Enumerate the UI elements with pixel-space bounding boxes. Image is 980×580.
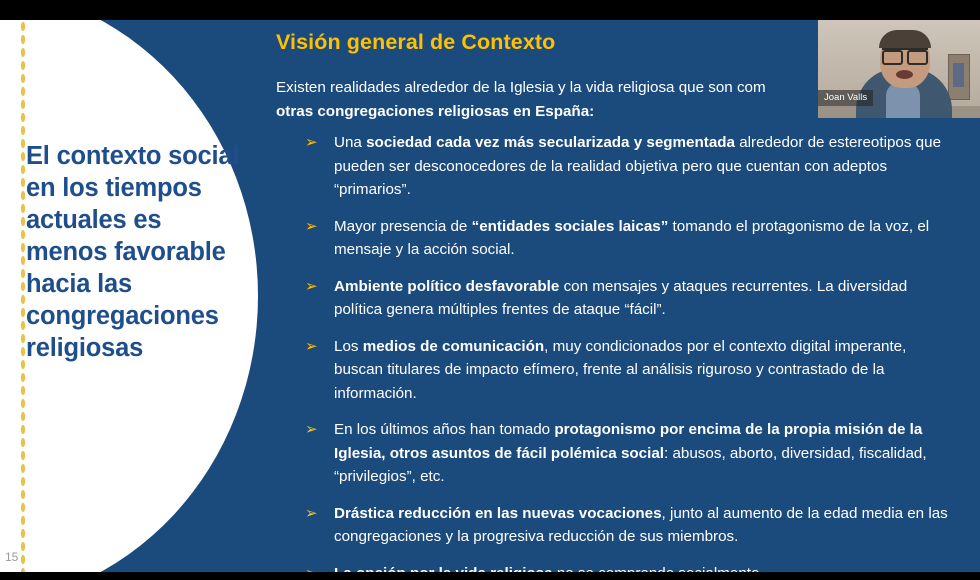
participant-video-tile[interactable]: Joan Valls	[818, 20, 980, 118]
bullet-arrow-icon: ➢	[305, 502, 318, 526]
bullet-arrow-icon: ➢	[305, 131, 318, 155]
bullet-text-plain: Una	[334, 134, 366, 151]
bullet-text-emphasis: “entidades sociales laicas”	[472, 218, 669, 235]
bullet-text: En los últimos años han tomado protagoni…	[334, 421, 927, 485]
bullet-text-emphasis: La opción por la vida religiosa	[334, 565, 553, 573]
bullet-text: La opción por la vida religiosa no se co…	[334, 565, 764, 573]
bullet-item: ➢La opción por la vida religiosa no se c…	[303, 562, 958, 573]
bullet-arrow-icon: ➢	[305, 418, 318, 442]
participant-hair	[879, 30, 931, 48]
intro-line-2: otras congregaciones religiosas en Españ…	[276, 103, 594, 120]
bullet-item: ➢Una sociedad cada vez más secularizada …	[303, 131, 958, 202]
bullet-text: Drástica reducción en las nuevas vocacio…	[334, 505, 948, 546]
bullet-text-plain: En los últimos años han tomado	[334, 421, 554, 438]
participant-name-badge: Joan Valls	[818, 90, 873, 106]
slide-title: Visión general de Contexto	[276, 30, 555, 55]
bullet-text-plain: no se comprende socialmente.	[553, 565, 764, 573]
bullet-arrow-icon: ➢	[305, 215, 318, 239]
bullet-text: Ambiente político desfavorable con mensa…	[334, 278, 907, 319]
slide-page-number: 15	[5, 550, 18, 564]
participant-mouth	[896, 70, 913, 79]
screen-share-viewport: El contexto social en los tiempos actual…	[0, 0, 980, 580]
bullet-item: ➢Drástica reducción en las nuevas vocaci…	[303, 502, 958, 549]
bullet-text: Una sociedad cada vez más secularizada y…	[334, 134, 941, 198]
bullet-item: ➢En los últimos años han tomado protagon…	[303, 418, 958, 489]
bullet-text-emphasis: Ambiente político desfavorable	[334, 278, 559, 295]
glasses-icon	[882, 48, 928, 61]
bullet-text-emphasis: sociedad cada vez más secularizada y seg…	[366, 134, 735, 151]
bullet-text-emphasis: Drástica reducción en las nuevas vocacio…	[334, 505, 662, 522]
bullet-text-plain: Los	[334, 338, 363, 355]
bullet-item: ➢Los medios de comunicación, muy condici…	[303, 335, 958, 406]
bullet-text-plain: Mayor presencia de	[334, 218, 472, 235]
bullet-arrow-icon: ➢	[305, 562, 318, 573]
bullet-arrow-icon: ➢	[305, 275, 318, 299]
bullet-item: ➢Ambiente político desfavorable con mens…	[303, 275, 958, 322]
bullet-text: Los medios de comunicación, muy condicio…	[334, 338, 906, 402]
left-panel-heading: El contexto social en los tiempos actual…	[26, 140, 244, 364]
bullet-text-emphasis: medios de comunicación	[363, 338, 544, 355]
bullet-item: ➢Mayor presencia de “entidades sociales …	[303, 215, 958, 262]
bullet-text: Mayor presencia de “entidades sociales l…	[334, 218, 929, 259]
intro-line-1: Existen realidades alrededor de la Igles…	[276, 79, 766, 96]
wall-picture-icon	[948, 54, 970, 100]
slide-bullet-list: ➢Una sociedad cada vez más secularizada …	[303, 131, 958, 572]
bullet-arrow-icon: ➢	[305, 335, 318, 359]
